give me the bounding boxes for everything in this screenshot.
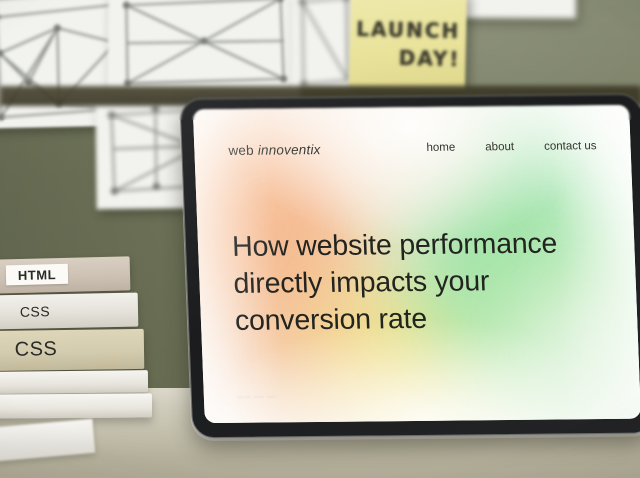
wireframe-sketch-2 bbox=[107, 0, 298, 99]
book-spine-label: HTML bbox=[6, 264, 68, 286]
sticky-note: LAUNCH DAY! bbox=[349, 0, 467, 91]
book-spine-label: CSS bbox=[2, 300, 68, 322]
sticky-note-line2: DAY! bbox=[349, 45, 488, 72]
book-spine-label: CSS bbox=[0, 336, 74, 363]
tablet-screen[interactable]: web innoventix home about contact us How… bbox=[193, 105, 640, 423]
book-css-2: CSS bbox=[0, 329, 144, 371]
book-css-1: CSS bbox=[0, 293, 138, 330]
photo-scene: LAUNCH DAY! HTML CSS CSS bbox=[0, 0, 640, 478]
book-html: HTML bbox=[0, 256, 130, 293]
screen-glare bbox=[193, 105, 640, 423]
book-unlabeled-1 bbox=[0, 370, 148, 394]
book-unlabeled-2 bbox=[0, 393, 152, 418]
sticky-note-line1: LAUNCH bbox=[350, 17, 467, 44]
tablet-device[interactable]: web innoventix home about contact us How… bbox=[179, 94, 640, 439]
